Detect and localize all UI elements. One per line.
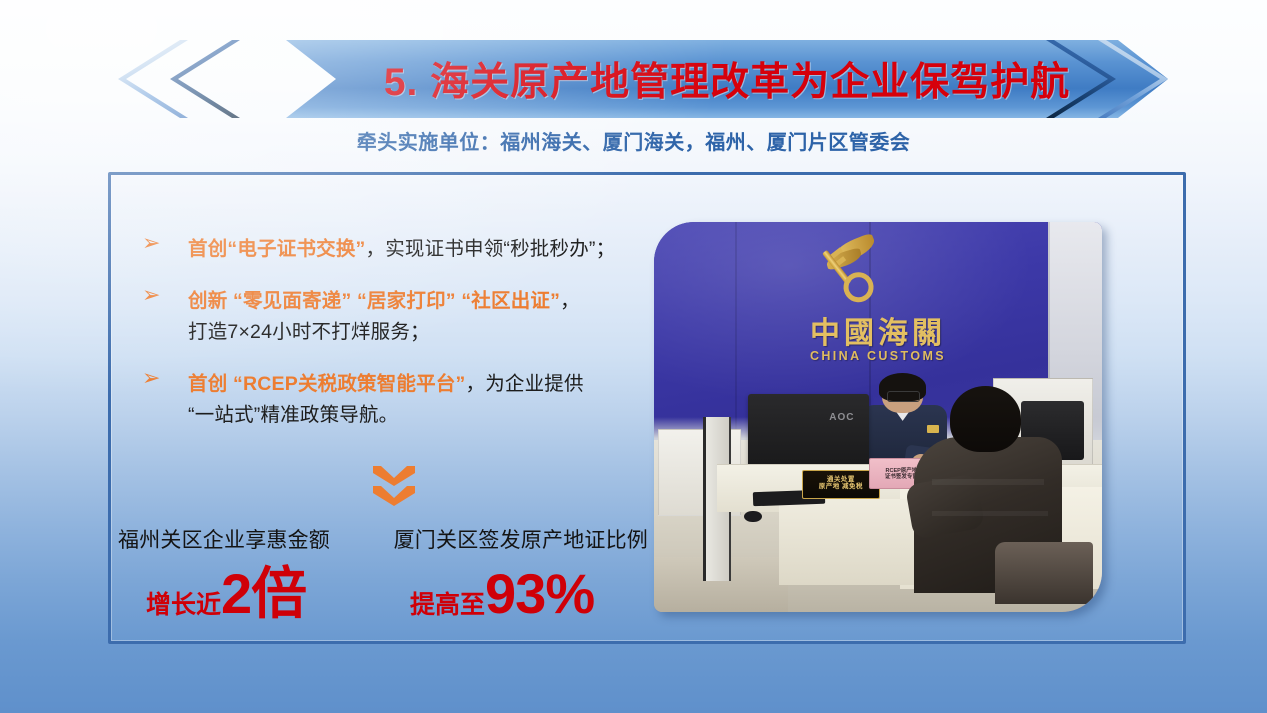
statistic-unit-1: % [545, 562, 594, 625]
chevron-down-top [373, 466, 415, 486]
statistic-label-1: 厦门关区签发原产地证比例 [394, 524, 648, 554]
bullet-text: 首创“电子证书交换”，实现证书申领“秒批秒办”； [188, 234, 662, 265]
bullet-arrow-icon: ➢ [142, 367, 160, 389]
key-tooth-2 [836, 256, 846, 265]
bullet-second-line: 打造7×24小时不打烊服务； [188, 317, 662, 348]
statistic-values: 增长近2倍 提高至93% [118, 556, 648, 618]
desk-sign-gold-line-2: 原产地 减免税 [819, 484, 863, 491]
photo-officer-badge [927, 425, 939, 434]
subtitle: 牵头实施单位：福州海关、厦门海关，福州、厦门片区管委会 [0, 126, 1267, 155]
photo-coat-seam-1 [932, 479, 1044, 485]
bullet-rest: ，实现证书申领“秒批秒办”； [366, 238, 616, 260]
bullet-rest: ， [560, 290, 580, 312]
statistic-label-0: 福州关区企业享惠金额 [118, 524, 330, 554]
banner-left-inner-chevron-icon [170, 40, 240, 118]
statistic-prefix-1: 提高至 [410, 591, 485, 619]
statistic-number-1: 93 [485, 562, 545, 625]
photo-content: 中國海關 CHINA CUSTOMS AOC [654, 222, 1102, 612]
statistic-unit-0: 倍 [251, 562, 306, 625]
bullet-text: 首创 “RCEP关税政策智能平台”，为企业提供 “一站式”精准政策导航。 [188, 369, 662, 431]
statistic-number-0: 2 [221, 562, 251, 625]
statistic-labels: 福州关区企业享惠金额 厦门关区签发原产地证比例 [118, 524, 648, 554]
bullet-second-line: “一站式”精准政策导航。 [188, 400, 662, 431]
bullet-arrow-icon: ➢ [142, 232, 160, 254]
list-item: ➢ 首创 “RCEP关税政策智能平台”，为企业提供 “一站式”精准政策导航。 [142, 369, 662, 431]
bullet-text: 创新 “零见面寄递” “居家打印” “社区出证”， 打造7×24小时不打烊服务； [188, 286, 662, 348]
slide-root: 5. 海关原产地管理改革为企业保驾护航 牵头实施单位：福州海关、厦门海关，福州、… [0, 0, 1267, 713]
customs-service-counter-photo: 中國海關 CHINA CUSTOMS AOC [654, 222, 1102, 612]
bullet-arrow-icon: ➢ [142, 284, 160, 306]
list-item: ➢ 创新 “零见面寄递” “居家打印” “社区出证”， 打造7×24小时不打烊服… [142, 286, 662, 348]
bullet-highlight: 首创“电子证书交换” [188, 238, 366, 260]
photo-mouse [744, 511, 762, 523]
bullet-highlight: 创新 “零见面寄递” “居家打印” “社区出证” [188, 290, 560, 312]
chevron-down-bottom [373, 486, 415, 506]
bullet-list: ➢ 首创“电子证书交换”，实现证书申领“秒批秒办”； ➢ 创新 “零见面寄递” … [142, 234, 662, 452]
photo-officer-glasses [887, 391, 920, 402]
statistics-block: 福州关区企业享惠金额 厦门关区签发原产地证比例 增长近2倍 提高至93% [118, 524, 648, 618]
statistic-value-1: 提高至93% [410, 566, 594, 622]
statistic-value-0: 增长近2倍 [146, 566, 306, 622]
page-title: 5. 海关原产地管理改革为企业保驾护航 [286, 40, 1168, 118]
monitor-brand-label: AOC [829, 412, 854, 423]
photo-chair [995, 542, 1094, 604]
desk-sign-pink-line-2: 证书签发专窗 [885, 474, 918, 480]
double-chevron-down-icon [373, 466, 415, 512]
title-banner: 5. 海关原产地管理改革为企业保驾护航 [118, 40, 1168, 118]
bullet-rest: ，为企业提供 [466, 373, 584, 395]
photo-wall-seam-2 [735, 222, 737, 440]
bullet-highlight: 首创 “RCEP关税政策智能平台” [188, 373, 466, 395]
wall-text-chinese: 中國海關 [775, 308, 981, 352]
statistic-prefix-0: 增长近 [146, 591, 221, 619]
photo-visitor-hair [950, 386, 1022, 452]
photo-coat-seam-2 [932, 511, 1048, 517]
wall-text-english: CHINA CUSTOMS [775, 349, 981, 363]
list-item: ➢ 首创“电子证书交换”，实现证书申领“秒批秒办”； [142, 234, 662, 265]
china-customs-emblem-icon [806, 238, 876, 304]
